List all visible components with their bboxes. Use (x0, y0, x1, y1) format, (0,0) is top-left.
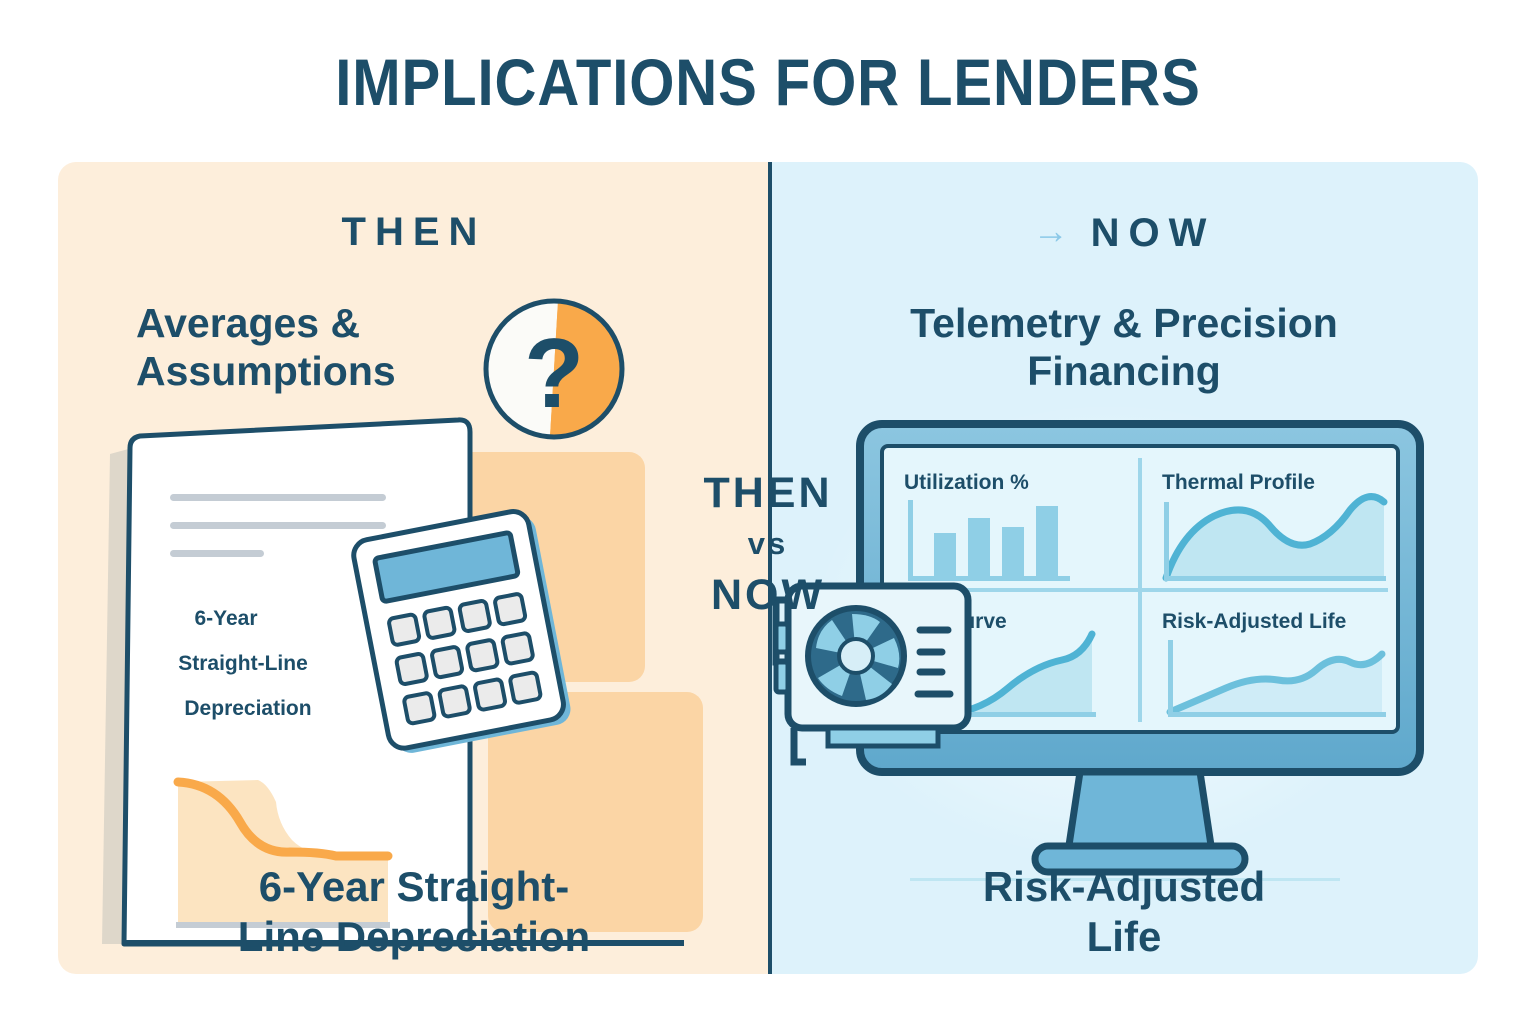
calculator-key (424, 607, 456, 639)
then-caption-line2: Line Depreciation (58, 912, 770, 962)
now-caption-line2: Life (770, 912, 1478, 962)
monitor-neck (1068, 772, 1212, 852)
gpu-port (776, 662, 788, 692)
gpu-fan-hub (839, 639, 873, 673)
calculator-key (467, 639, 499, 671)
calculator-key (388, 614, 420, 646)
infographic-canvas: IMPLICATIONS FOR LENDERS THEN Averages &… (0, 0, 1536, 1024)
document-text-line1: 6-Year (194, 607, 257, 630)
vs-line-vs: vs (628, 515, 908, 574)
gpu-tab (794, 728, 806, 762)
document-text-line2: Straight-Line (178, 652, 308, 675)
then-vs-now-label: THEN vs NOW (628, 472, 908, 617)
svg-text:?: ? (524, 318, 584, 428)
calculator-key (510, 672, 542, 704)
calculator-key (396, 653, 428, 685)
then-caption-line1: 6-Year Straight- (58, 862, 770, 912)
calculator-key (502, 633, 534, 665)
gpu-port (776, 624, 788, 652)
calculator-key (431, 646, 463, 678)
quadrant-label-thermal: Thermal Profile (1162, 471, 1315, 494)
now-caption-line1: Risk-Adjusted (770, 862, 1478, 912)
document-text-line3: Depreciation (184, 697, 311, 720)
question-mark-circle-icon: ? (480, 295, 628, 443)
page-title: IMPLICATIONS FOR LENDERS (92, 44, 1444, 120)
calculator-key (494, 593, 526, 625)
document-rule-2 (170, 522, 386, 529)
vs-line-then: THEN (628, 472, 908, 515)
quadrant-label-risk: Risk-Adjusted Life (1162, 610, 1346, 633)
gpu-connector (828, 728, 938, 746)
then-caption: 6-Year Straight- Line Depreciation (58, 862, 770, 963)
quadrant-label-utilization: Utilization % (904, 471, 1029, 494)
calculator-key (474, 679, 506, 711)
vs-line-now: NOW (628, 574, 908, 617)
now-caption: Risk-Adjusted Life (770, 862, 1478, 963)
calculator-key (439, 686, 471, 718)
document-rule-1 (170, 494, 386, 501)
calculator-key (459, 600, 491, 632)
document-rule-3 (170, 550, 264, 557)
calculator-key (404, 692, 436, 724)
